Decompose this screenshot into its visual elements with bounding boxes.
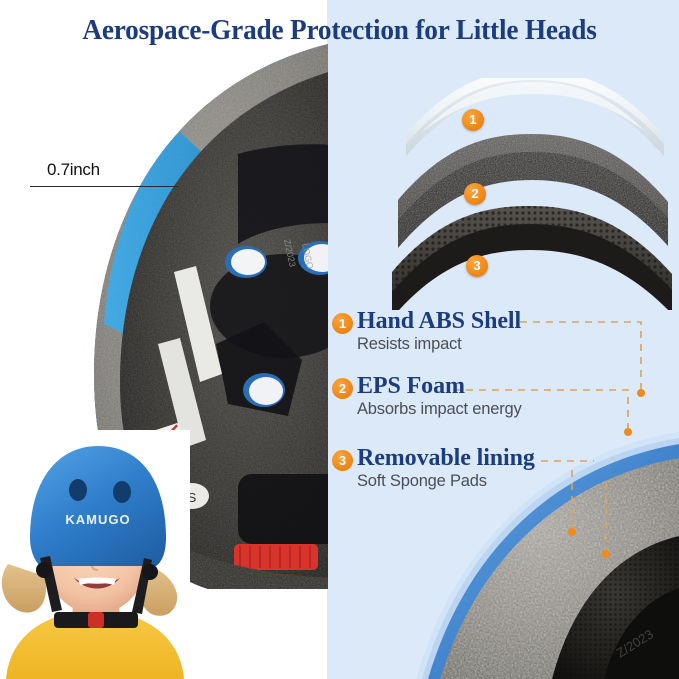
- measurement-leader-line: [30, 186, 178, 187]
- callout-heading-1: Hand ABS Shell: [357, 308, 521, 335]
- callout-badge-3: 3: [332, 450, 353, 471]
- exploded-layers-diagram: [382, 78, 679, 310]
- callout-badge-1: 1: [332, 313, 353, 334]
- layer-badge-2: 2: [464, 183, 486, 205]
- child-wearing-helmet-photo: KAMUGO: [0, 430, 190, 679]
- layer-badge-1: 1: [462, 109, 484, 131]
- callout-subtitle-2: Absorbs impact energy: [357, 400, 522, 419]
- callout-subtitle-3: Soft Sponge Pads: [357, 472, 487, 491]
- callout-badge-2: 2: [332, 378, 353, 399]
- helmet-brand-text: KAMUGO: [65, 512, 130, 527]
- callout-heading-2: EPS Foam: [357, 373, 465, 400]
- callout-heading-3: Removable lining: [357, 445, 535, 472]
- measurement-label: 0.7inch: [47, 160, 100, 180]
- layer-badge-3: 3: [466, 255, 488, 277]
- callout-subtitle-1: Resists impact: [357, 335, 461, 354]
- page-title: Aerospace-Grade Protection for Little He…: [20, 14, 658, 47]
- infographic-canvas: Aerospace-Grade Protection for Little He…: [0, 0, 679, 679]
